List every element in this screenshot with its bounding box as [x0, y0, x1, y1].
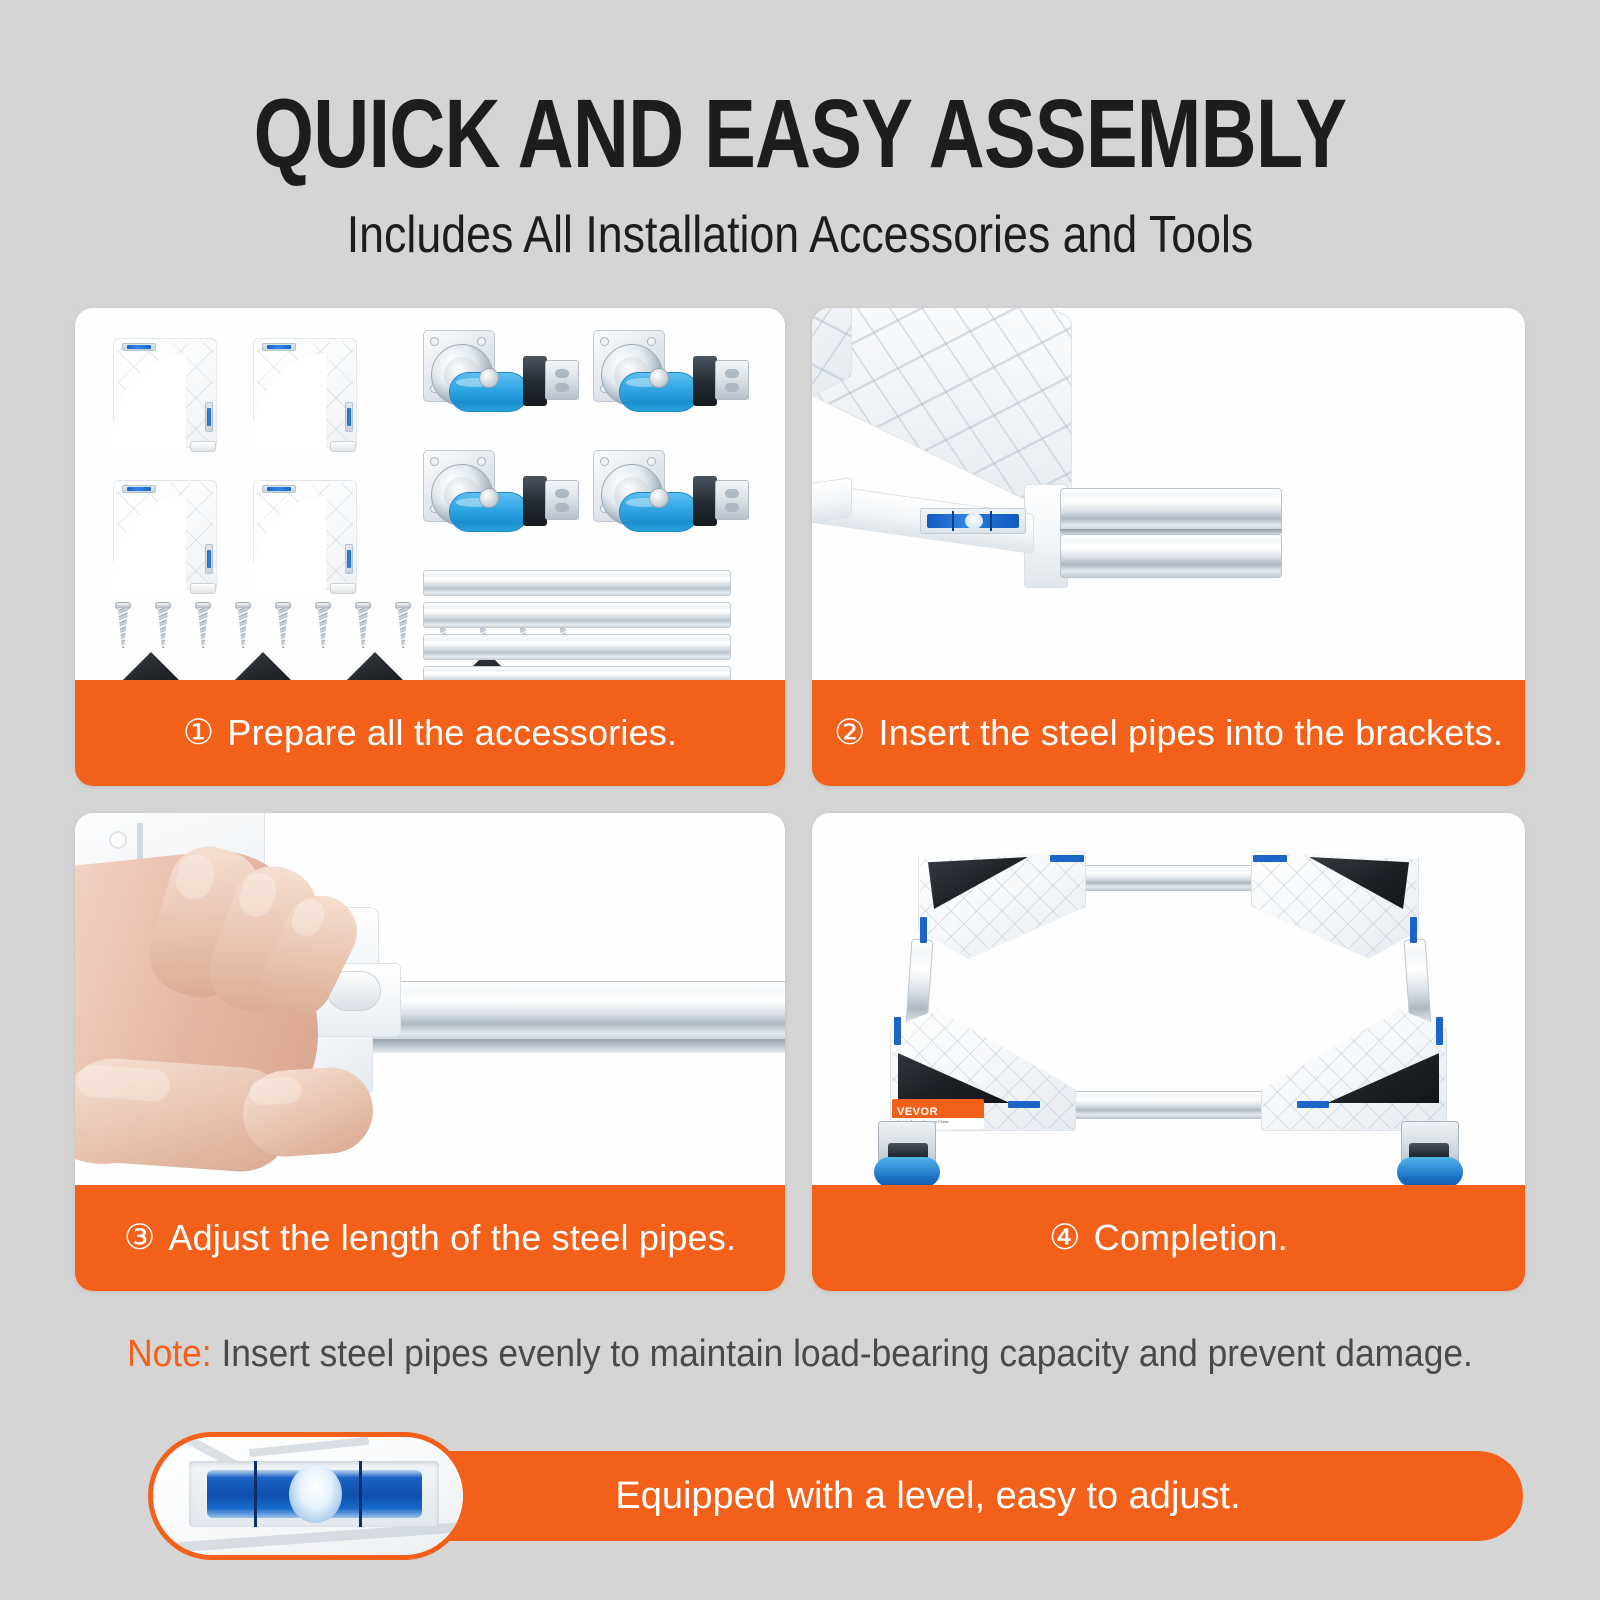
wheel [1397, 1157, 1463, 1185]
note-line: Note: Insert steel pipes evenly to maint… [56, 1330, 1544, 1378]
steel-pipe [1074, 865, 1270, 891]
step-panel-3: ③ Adjust the length of the steel pipes. [75, 813, 785, 1291]
step-number: ① [183, 713, 215, 753]
level-vial-icon [205, 402, 213, 432]
steel-pipe [1060, 534, 1282, 578]
step-panel-1: ① Prepare all the accessories. [75, 308, 785, 786]
corner-bracket [253, 338, 357, 448]
screw [355, 602, 371, 648]
corner-bracket [253, 480, 357, 590]
screw [235, 602, 251, 648]
step-2-image [812, 308, 1525, 680]
screw [395, 602, 411, 648]
screw [155, 602, 171, 648]
step-1-caption: ① Prepare all the accessories. [75, 680, 785, 786]
screw [195, 602, 211, 648]
step-caption-text: Insert the steel pipes into the brackets… [879, 712, 1504, 754]
step-3-caption: ③ Adjust the length of the steel pipes. [75, 1185, 785, 1291]
feature-banner-bar: Equipped with a level, easy to adjust. [333, 1451, 1523, 1541]
step-1-image [75, 308, 785, 680]
brand-name: VEVOR [897, 1106, 984, 1118]
step-3-image [75, 813, 785, 1185]
step-caption-text: Completion. [1094, 1217, 1288, 1259]
step-number: ③ [124, 1218, 156, 1258]
blue-tab [894, 1017, 901, 1045]
page-subtitle: Includes All Installation Accessories an… [112, 205, 1488, 265]
steel-pipe [1060, 1091, 1272, 1119]
step-number: ④ [1049, 1218, 1081, 1258]
bubble-level-thumbnail [148, 1432, 468, 1560]
infographic-root: QUICK AND EASY ASSEMBLY Includes All Ins… [0, 0, 1600, 1600]
blue-tab [1050, 855, 1084, 862]
steel-pipe [423, 570, 731, 596]
blue-tab [1410, 917, 1417, 943]
step-caption-text: Adjust the length of the steel pipes. [168, 1217, 736, 1259]
step-panel-4: VEVOR Washing Machine Stand Mobile Base … [812, 813, 1525, 1291]
step-panel-2: ② Insert the steel pipes into the bracke… [812, 308, 1525, 786]
steel-pipe [423, 602, 731, 628]
note-label: Note: [127, 1333, 211, 1375]
blue-tab [920, 917, 927, 943]
step-2-caption: ② Insert the steel pipes into the bracke… [812, 680, 1525, 786]
screw [315, 602, 331, 648]
rubber-pad [331, 652, 419, 680]
step-caption-text: Prepare all the accessories. [227, 712, 677, 754]
steel-pipe [357, 981, 785, 1043]
note-text: Insert steel pipes evenly to maintain lo… [221, 1333, 1472, 1375]
step-number: ② [834, 713, 866, 753]
level-vial-icon [122, 343, 156, 351]
screw [115, 602, 131, 648]
step-4-image: VEVOR Washing Machine Stand Mobile Base … [812, 813, 1525, 1185]
steel-pipe [423, 666, 731, 680]
corner-bracket [113, 480, 217, 590]
thumb-tip [240, 1065, 376, 1160]
steel-pipe [1060, 488, 1282, 532]
blue-tab [1253, 855, 1287, 862]
steel-pipe [423, 634, 731, 660]
blue-tab [1297, 1101, 1329, 1108]
step-4-caption: ④ Completion. [812, 1185, 1525, 1291]
screw [275, 602, 291, 648]
page-title: QUICK AND EASY ASSEMBLY [160, 84, 1440, 184]
rubber-pad [107, 652, 195, 680]
feature-banner: Equipped with a level, easy to adjust. [148, 1432, 1528, 1560]
level-window [189, 1461, 439, 1527]
rubber-pad [219, 652, 307, 680]
blue-tab [1436, 1017, 1443, 1045]
level-vial [920, 508, 1026, 534]
blue-tab [1008, 1101, 1040, 1108]
feature-banner-text: Equipped with a level, easy to adjust. [615, 1475, 1240, 1518]
wheel [874, 1157, 940, 1185]
corner-bracket [113, 338, 217, 448]
